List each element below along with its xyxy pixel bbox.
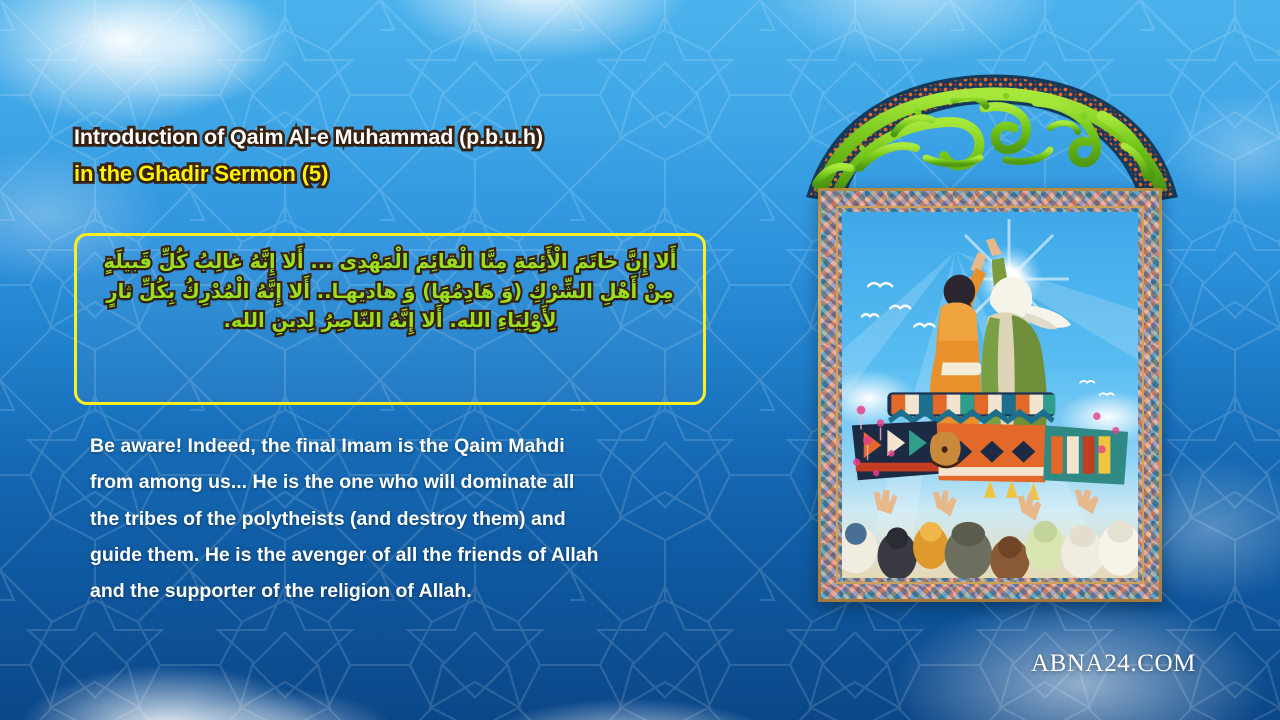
cloud-bottom-left [0, 640, 380, 720]
illustration-frame [818, 188, 1162, 602]
flower-petals-right-icon [1085, 402, 1132, 483]
cloud-bottom-center [400, 676, 860, 720]
translation-line: from among us... He is the one who will … [90, 464, 708, 500]
headline-line-2: in the Ghadir Sermon (5) [74, 163, 734, 185]
persian-tile-border-icon [821, 191, 1159, 599]
translation-line: Be aware! Indeed, the final Imam is the … [90, 428, 708, 464]
cloud-bottom-left-2 [140, 672, 440, 720]
site-watermark: ABNA24.COM [1031, 650, 1196, 678]
headline-line-1: Introduction of Qaim Al-e Muhammad (p.b.… [74, 127, 734, 149]
translation-line: the tribes of the polytheists (and destr… [90, 501, 708, 537]
arabic-quote-box: أَلا إِنَّ خاتَمَ الْأَئِمَةِ مِنَّا الْ… [74, 233, 706, 405]
cloud-top-left-2 [40, 0, 340, 130]
crowd-icon [842, 490, 1138, 578]
headline-block: Introduction of Qaim Al-e Muhammad (p.b.… [74, 127, 734, 185]
ghadir-sermon-illustration-icon [842, 212, 1138, 578]
translation-block: Be aware! Indeed, the final Imam is the … [90, 428, 708, 609]
cloud-top-center [330, 0, 750, 90]
poster-canvas: Introduction of Qaim Al-e Muhammad (p.b.… [0, 0, 1280, 720]
arabic-quote-text: أَلا إِنَّ خاتَمَ الْأَئِمَةِ مِنَّا الْ… [91, 247, 689, 336]
flower-petals-icon [848, 395, 913, 490]
translation-line: guide them. He is the avenger of all the… [90, 537, 708, 573]
translation-line: and the supporter of the religion of All… [90, 573, 708, 609]
